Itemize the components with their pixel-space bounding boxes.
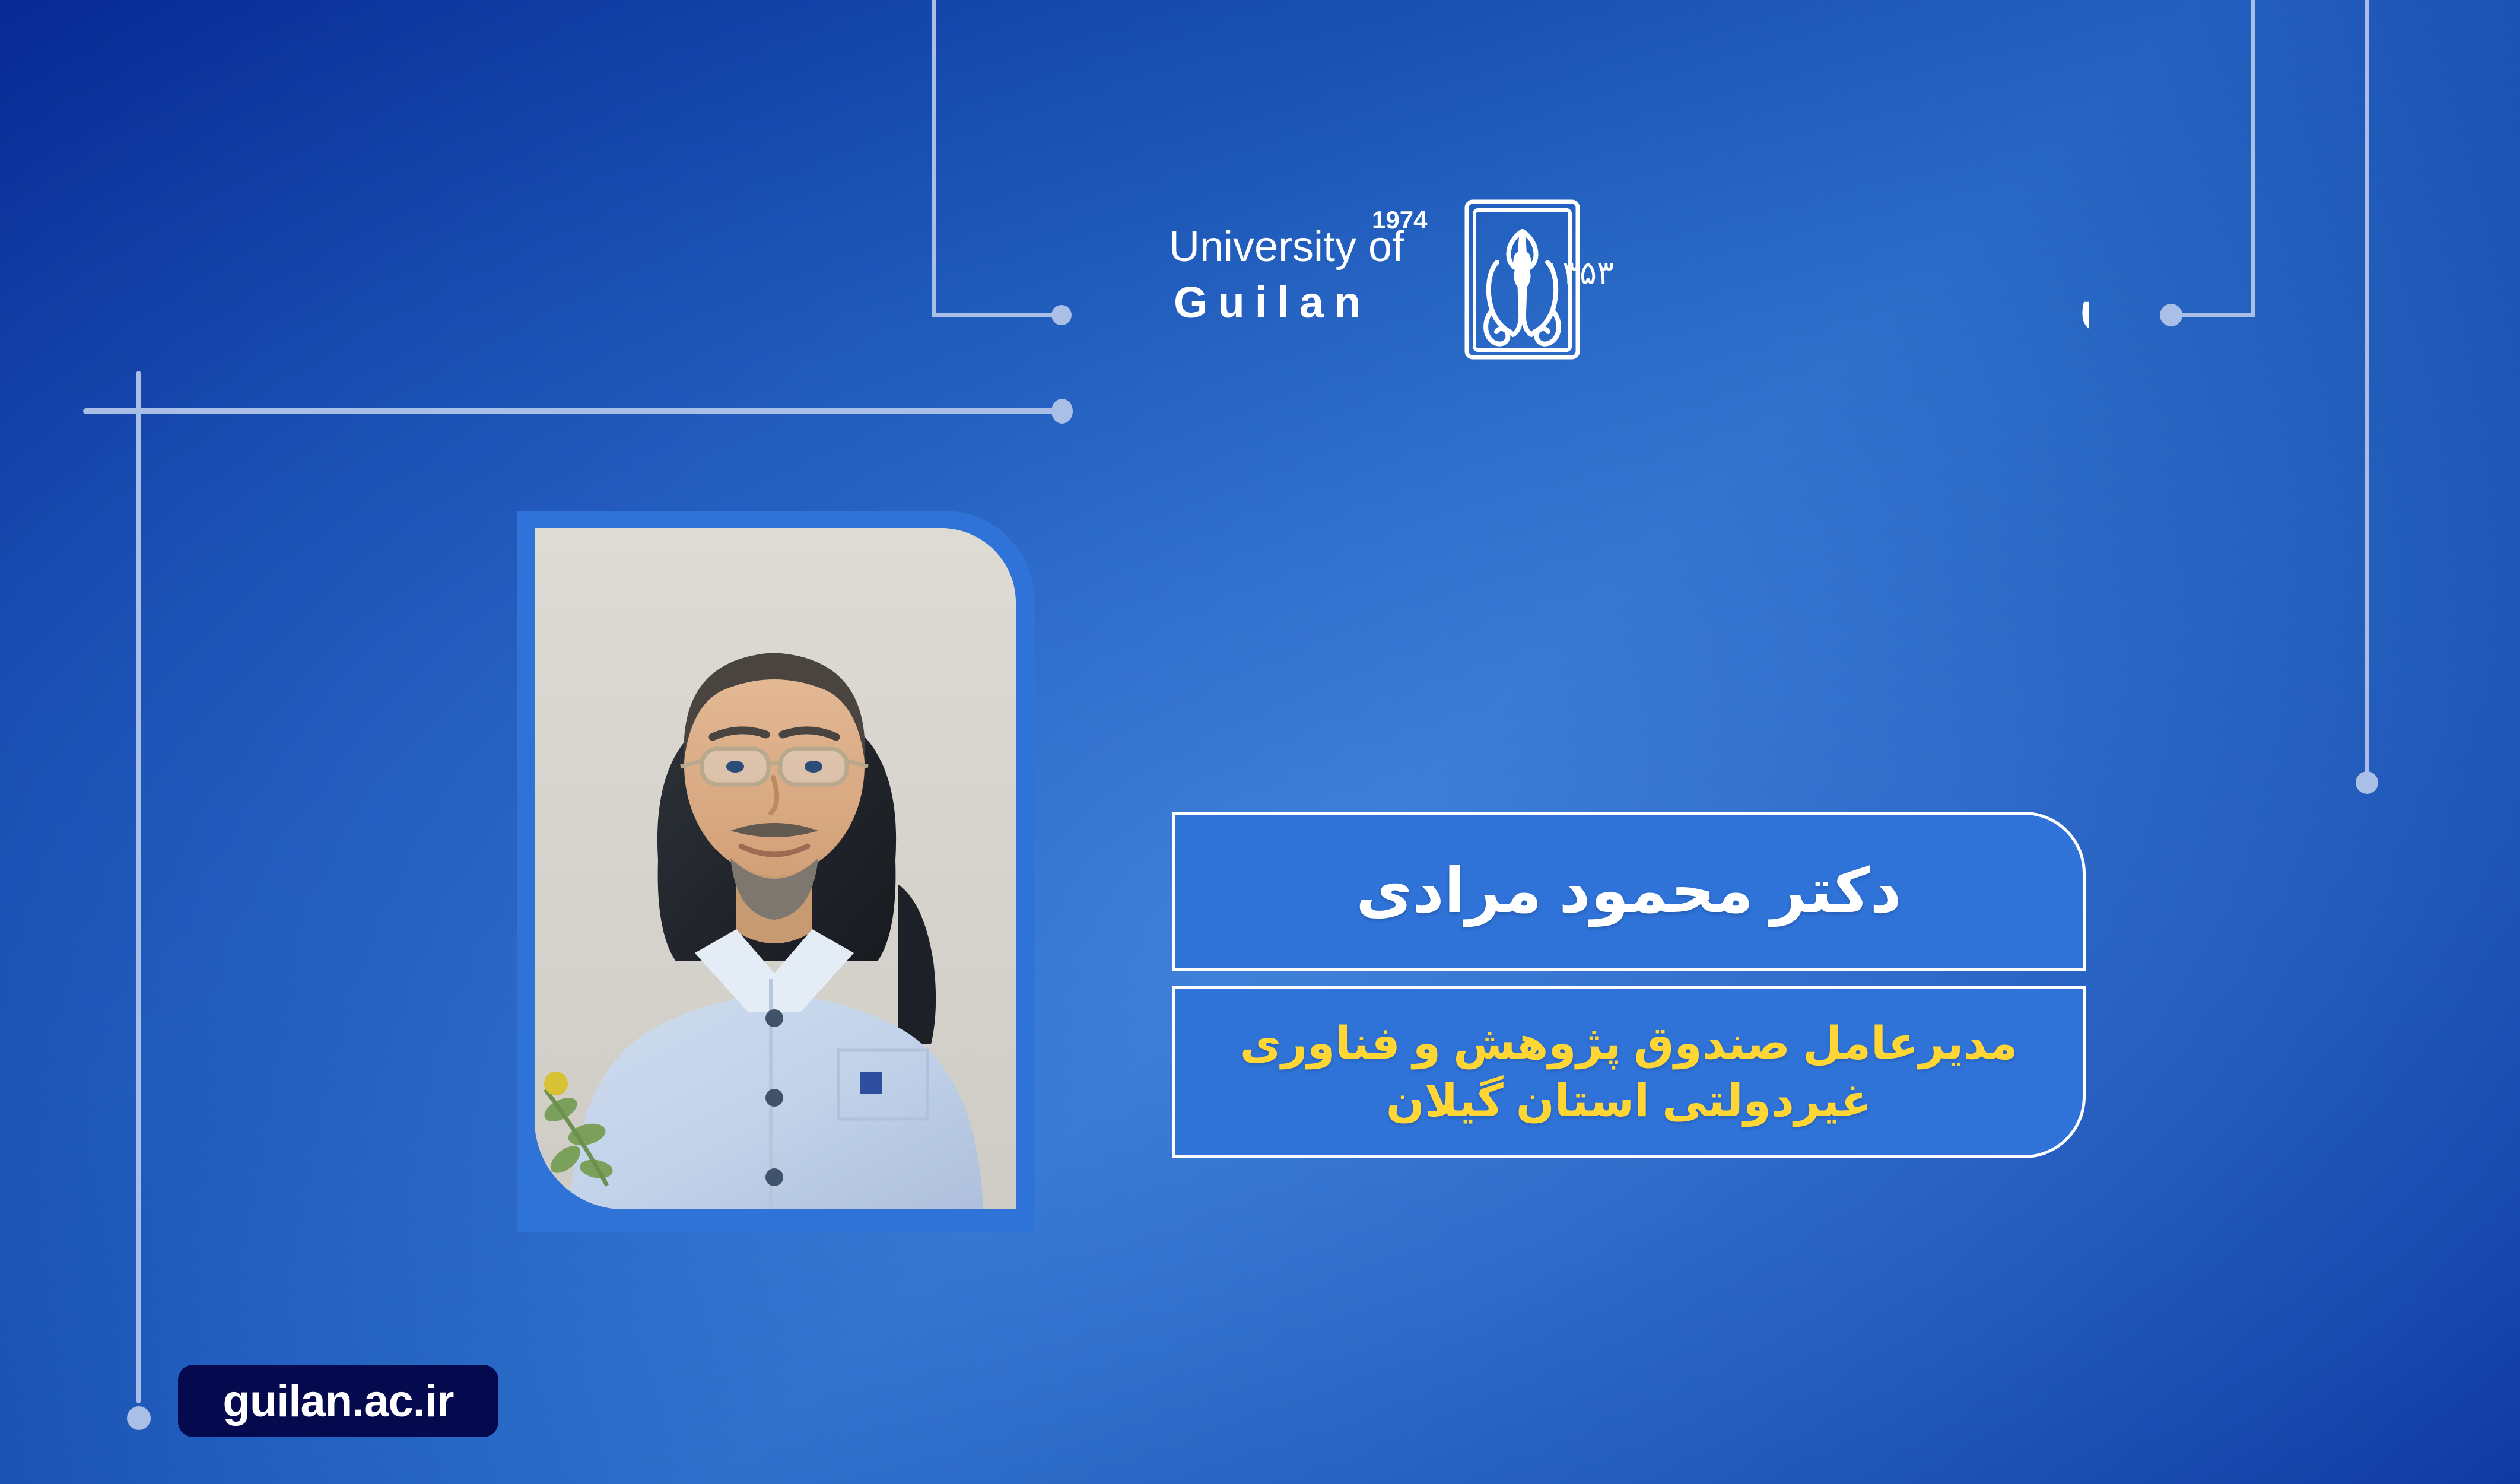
svg-text:University of: University of — [1169, 223, 1404, 271]
corner-rule-top-right-vertical — [2251, 0, 2255, 317]
website-url-text: guilan.ac.ir — [223, 1375, 453, 1427]
person-role: مدیرعامل صندوق پژوهش و فناوری غیردولتی ا… — [1219, 1015, 2039, 1130]
person-role-line-1: مدیرعامل صندوق پژوهش و فناوری — [1240, 1015, 2018, 1072]
portrait-frame — [517, 511, 1035, 1232]
role-banner: مدیرعامل صندوق پژوهش و فناوری غیردولتی ا… — [1172, 986, 2086, 1158]
svg-text:Guilan: Guilan — [1174, 278, 1371, 327]
person-role-line-2: غیردولتی استان گیلان — [1240, 1072, 2018, 1130]
vertical-rule-far-right — [2365, 0, 2369, 786]
banner-canvas: University of Guilan 1974 ۱۳۵۳ — [0, 0, 2520, 1484]
name-banner: دکتر محمود مرادی — [1172, 812, 2086, 971]
svg-text:۱۳۵۳: ۱۳۵۳ — [1545, 254, 1614, 291]
portrait-photo — [535, 528, 1016, 1209]
corner-rule-top-right-horizontal — [2173, 313, 2255, 317]
svg-text:دانشگاه گیلان: دانشگاه گیلان — [2077, 248, 2089, 339]
vertical-rule-left — [136, 371, 141, 1403]
corner-rule-top-right-dot — [2160, 304, 2182, 326]
university-of-guilan-logo: University of Guilan 1974 ۱۳۵۳ — [1163, 196, 2089, 362]
vertical-rule-far-right-dot — [2356, 771, 2378, 794]
horizontal-rule-left — [83, 408, 1062, 414]
corner-rule-top-center-vertical — [932, 0, 936, 317]
corner-rule-top-center-dot — [1051, 305, 1072, 325]
website-url-badge[interactable]: guilan.ac.ir — [178, 1365, 498, 1437]
svg-text:1974: 1974 — [1372, 206, 1428, 234]
horizontal-rule-left-dot — [1051, 399, 1073, 424]
corner-rule-top-center-horizontal — [932, 313, 1063, 317]
person-name: دکتر محمود مرادی — [1356, 857, 1902, 925]
vertical-rule-left-dot — [127, 1406, 151, 1430]
